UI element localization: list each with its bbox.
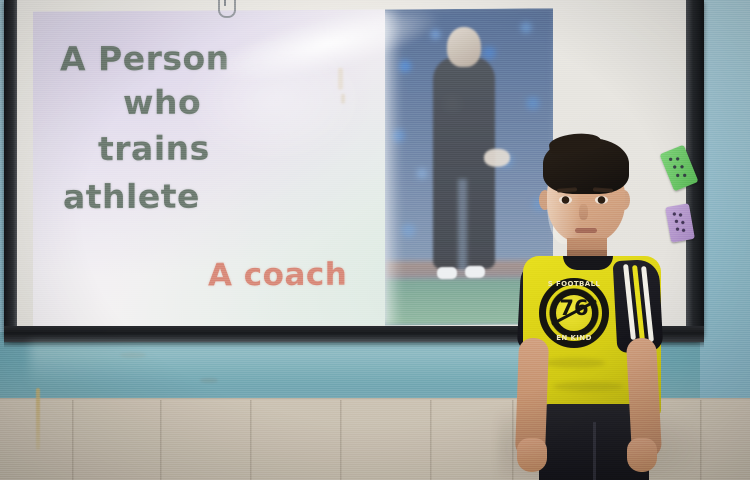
panel-groove [700,400,702,480]
coach-shoe-left [437,267,457,279]
panel-groove [72,400,74,480]
wall-right-section [700,0,750,404]
slide-line-2: who [123,83,201,122]
shirt-emblem-bottom-text: EN KIND [539,334,609,342]
slide-text-block: A Person who trains athlete A coach [33,9,383,327]
photo-edge-flare [385,9,401,325]
panel-groove [160,400,162,480]
shirt-emblem-number: 76 [553,296,595,320]
whiteboard-left-edge [4,0,17,336]
coach-legs-gap [458,179,467,271]
slide-line-4: athlete [63,177,200,217]
boy-eye-left [559,196,572,204]
trousers-seam [593,422,596,480]
boy-nose [579,204,588,220]
boy-hand-left [517,438,547,472]
boy-eye-right [595,196,608,204]
classroom-photo: A Person who trains athlete A coach [0,0,750,480]
panel-groove [250,400,252,480]
shirt-fold [553,382,623,391]
slide-artifact [341,94,345,104]
slide-answer-text: A coach [208,257,347,294]
projected-slide: A Person who trains athlete A coach [33,8,553,327]
coach-head [447,27,481,67]
panel-groove [340,400,342,480]
board-hook-icon [218,0,236,18]
slide-line-3: trains [98,129,210,169]
boy-hand-right [627,438,657,472]
paint-drip-mark [36,388,40,450]
shirt-fold [545,358,605,368]
boy-mouth [575,228,597,233]
panel-groove [430,400,432,480]
boy-standing: S FOOTBALL 76 EN KIND [505,138,695,480]
wall-scuff [200,378,218,383]
wall-scuff [120,352,146,358]
slide-line-1: A Person [60,38,230,78]
shirt-collar [563,256,613,270]
slide-artifact [338,68,343,90]
coach-shoe-right [465,266,485,278]
shirt-emblem-top-text: S FOOTBALL [539,280,609,288]
